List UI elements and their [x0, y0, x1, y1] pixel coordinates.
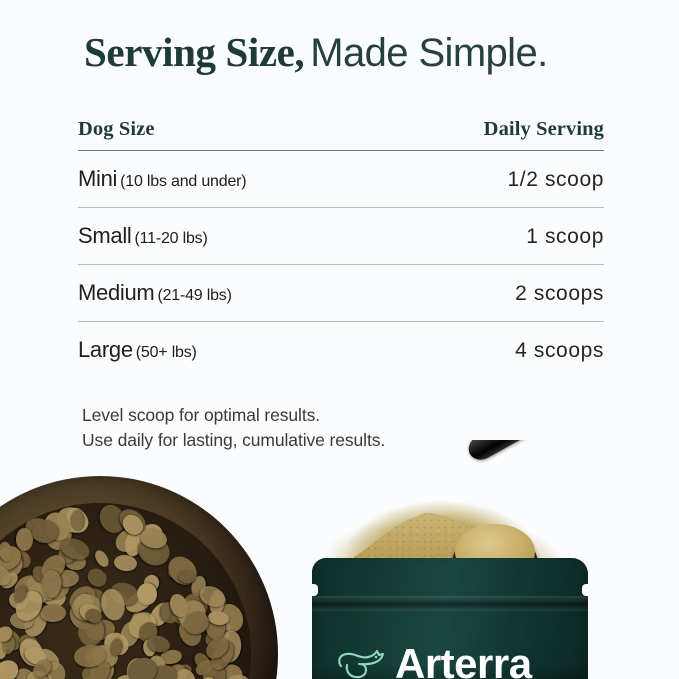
column-header-dog-size: Dog Size: [78, 118, 155, 141]
brand-name: Arterra: [395, 643, 532, 679]
product-pouch: Arterra: [312, 558, 588, 679]
dog-size-name: Large: [78, 337, 133, 362]
dog-size-name: Medium: [78, 280, 154, 305]
dog-head-icon: [336, 644, 386, 679]
pouch-branding: Arterra: [336, 643, 532, 679]
dog-size-cell: Mini(10 lbs and under): [78, 166, 246, 192]
dog-size-cell: Medium(21-49 lbs): [78, 280, 232, 306]
dog-size-name: Mini: [78, 166, 117, 191]
page-title: Serving Size,Made Simple.: [84, 32, 548, 73]
dog-food-bowl: [0, 476, 278, 679]
product-photo: Arterra: [0, 440, 679, 679]
kibble-piece: [16, 528, 33, 551]
daily-serving-cell: 1 scoop: [526, 225, 604, 249]
serving-size-table: Dog Size Daily Serving Mini(10 lbs and u…: [78, 118, 604, 379]
kibble-piece: [40, 604, 66, 622]
page-title-strong: Serving Size,: [84, 29, 304, 75]
pouch-seal: [312, 596, 588, 611]
table-row: Mini(10 lbs and under) 1/2 scoop: [78, 151, 604, 208]
pouch-tear-notch-left: [311, 584, 318, 596]
measuring-scoop-handle: [464, 440, 595, 464]
table-row: Small(11-20 lbs) 1 scoop: [78, 208, 604, 265]
usage-note-line: Level scoop for optimal results.: [82, 403, 385, 428]
table-header-row: Dog Size Daily Serving: [78, 118, 604, 151]
daily-serving-cell: 4 scoops: [515, 339, 604, 363]
table-row: Large(50+ lbs) 4 scoops: [78, 322, 604, 379]
dog-size-range: (11-20 lbs): [135, 230, 208, 247]
daily-serving-cell: 2 scoops: [515, 282, 604, 306]
serving-size-infographic: Serving Size,Made Simple. Dog Size Daily…: [0, 0, 679, 679]
dog-size-range: (50+ lbs): [136, 344, 197, 361]
dog-size-cell: Small(11-20 lbs): [78, 223, 208, 249]
dog-size-range: (21-49 lbs): [157, 287, 231, 304]
page-title-light: Made Simple.: [310, 31, 547, 75]
bowl-interior: [0, 503, 251, 679]
dog-size-cell: Large(50+ lbs): [78, 337, 197, 363]
daily-serving-cell: 1/2 scoop: [508, 168, 604, 192]
table-row: Medium(21-49 lbs) 2 scoops: [78, 265, 604, 322]
kibble-piece: [92, 548, 111, 569]
pouch-tear-notch-right: [582, 584, 589, 596]
dog-size-name: Small: [78, 223, 132, 248]
dog-size-range: (10 lbs and under): [120, 173, 246, 190]
column-header-daily-serving: Daily Serving: [484, 118, 604, 141]
kibble-piece: [113, 554, 138, 573]
